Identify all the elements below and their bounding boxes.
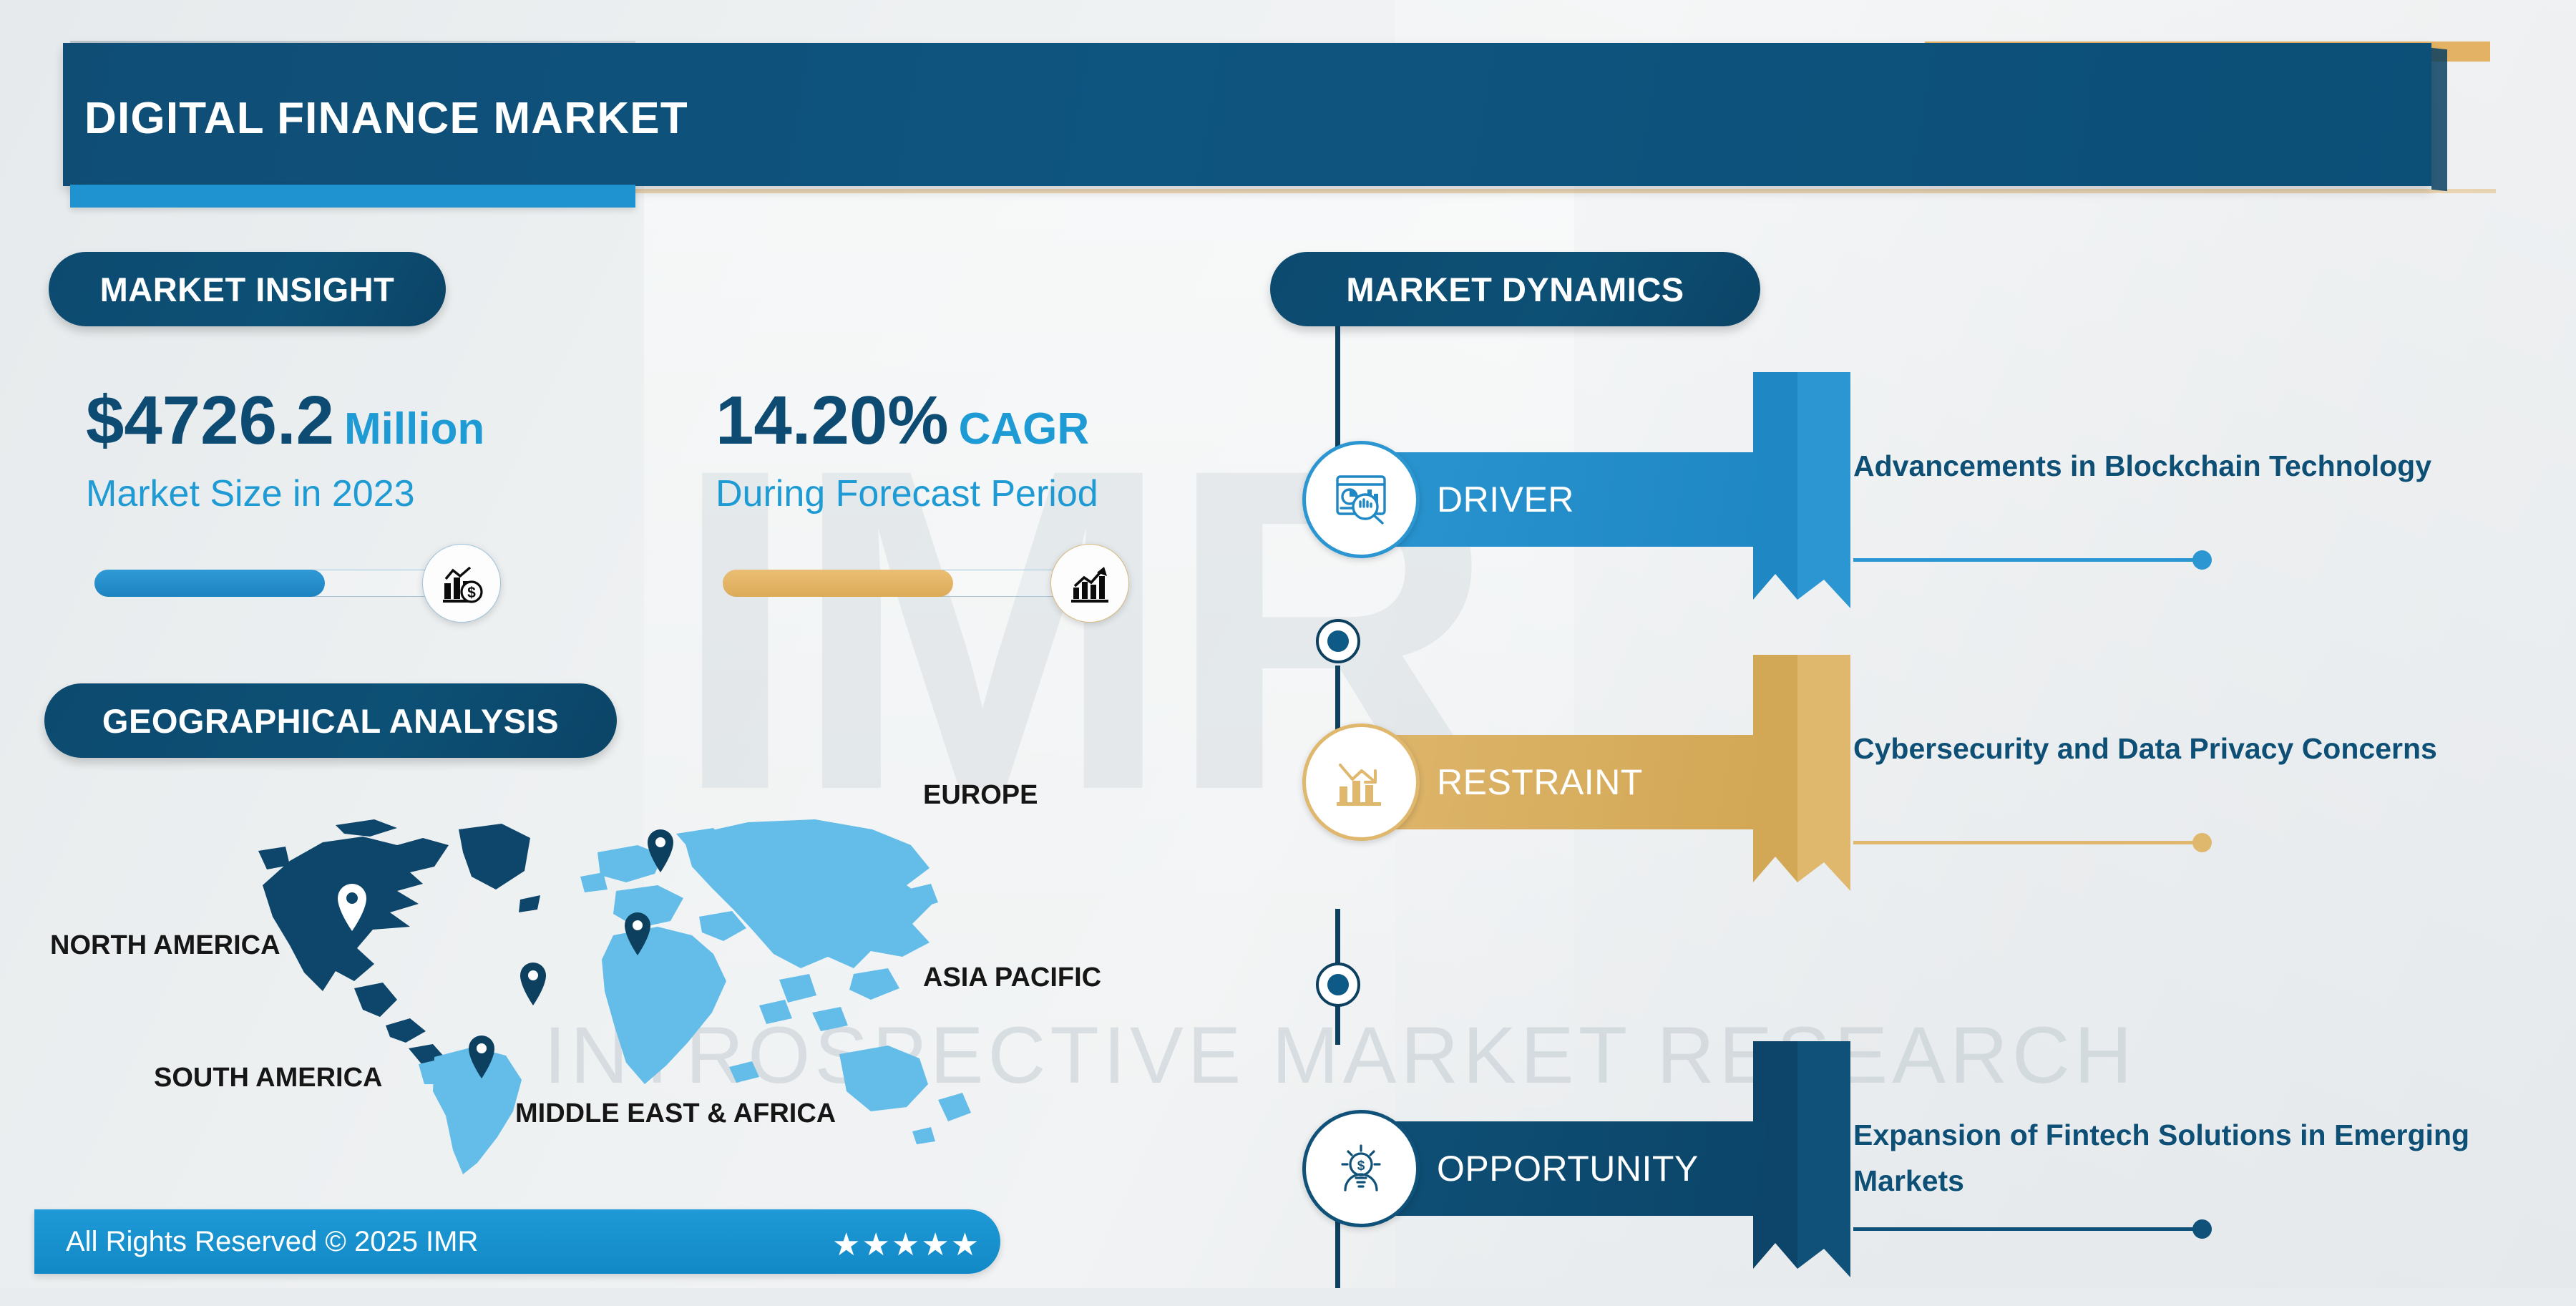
underline-end-dot [2192,550,2212,570]
progress-fill [723,570,953,597]
lightbulb-dollar-icon: $ [1302,1110,1420,1227]
cagr-unit: CAGR [959,404,1090,454]
stat-market-size: $4726.2Million Market Size in 2023 [86,386,484,515]
bar-chart-dollar-icon: $ [422,544,501,623]
growth-arrow-chart-icon [1050,544,1129,623]
restraint-description-block: Cybersecurity and Data Privacy Concerns [1853,726,2519,772]
svg-text:$: $ [1357,1159,1365,1174]
dynamics-item-driver[interactable]: DRIVER Advancements in Blockchain Techno… [1281,437,2540,580]
map-label-middle-east-africa: MIDDLE EAST & AFRICA [515,1098,836,1129]
market-size-caption: Market Size in 2023 [86,472,484,515]
driver-description-block: Advancements in Blockchain Technology [1853,444,2519,489]
copyright-text: All Rights Reserved © 2025 IMR [66,1226,478,1258]
cagr-value-row: 14.20%CAGR [716,386,1098,455]
svg-text:$: $ [467,585,476,601]
restraint-underline [1853,841,2204,844]
map-label-asia-pacific: ASIA PACIFIC [923,963,1101,993]
opportunity-label: OPPORTUNITY [1437,1148,1699,1189]
map-label-north-america: NORTH AMERICA [50,930,280,961]
underline-rule [1853,841,2204,844]
declining-bar-chart-icon [1302,723,1420,841]
opportunity-band[interactable]: $ OPPORTUNITY [1315,1121,1766,1216]
driver-band[interactable]: DRIVER [1315,452,1766,547]
region-middle-east-africa [602,911,759,1084]
region-south-america [419,1047,522,1174]
driver-underline [1853,558,2204,562]
timeline-node-dot [1316,963,1360,1007]
progress-fill [94,570,325,597]
timeline-node-dot [1316,619,1360,663]
geographical-analysis-heading: GEOGRAPHICAL ANALYSIS [44,683,617,758]
footer-bar: All Rights Reserved © 2025 IMR ★★★★★ [34,1209,1000,1274]
region-oceania [839,1046,971,1144]
opportunity-underline [1853,1227,2204,1231]
restraint-ribbon [1753,655,1850,920]
market-size-value-row: $4726.2Million [86,386,484,455]
map-label-europe: EUROPE [923,780,1038,811]
opportunity-ribbon [1753,1041,1850,1306]
driver-ribbon [1753,372,1850,637]
market-size-value: $4726.2 [86,382,334,459]
header-blue-accent [70,185,635,208]
page-title: DIGITAL FINANCE MARKET [84,93,688,144]
cagr-progress [723,567,1095,600]
opportunity-description-block: Expansion of Fintech Solutions in Emergi… [1853,1113,2519,1204]
underline-rule [1853,1227,2204,1231]
restraint-label: RESTRAINT [1437,761,1643,803]
underline-end-dot [2192,1219,2212,1239]
opportunity-description: Expansion of Fintech Solutions in Emergi… [1853,1113,2519,1204]
map-pin-middle-east-africa [520,963,546,1005]
underline-end-dot [2192,833,2212,852]
region-north-america [258,819,540,1066]
driver-label: DRIVER [1437,479,1574,520]
infographic-root: IMR INTROSPECTIVE MARKET RESEARCH DIGITA… [0,0,2576,1288]
cagr-caption: During Forecast Period [716,472,1098,515]
underline-rule [1853,558,2204,562]
cagr-value: 14.20% [716,382,949,459]
map-label-south-america: SOUTH AMERICA [154,1063,382,1093]
driver-description: Advancements in Blockchain Technology [1853,444,2519,489]
stat-cagr: 14.20%CAGR During Forecast Period [716,386,1098,515]
restraint-description: Cybersecurity and Data Privacy Concerns [1853,726,2519,772]
market-size-progress [94,567,467,600]
dynamics-item-restraint[interactable]: RESTRAINT Cybersecurity and Data Privacy… [1281,719,2540,862]
market-size-unit: Million [344,404,484,454]
rating-stars: ★★★★★ [832,1227,980,1263]
dashboard-magnifier-icon [1302,441,1420,558]
dynamics-item-opportunity[interactable]: $ OPPORTUNITY Expansion of Fintech Solut… [1281,1106,2540,1249]
market-dynamics-heading: MARKET DYNAMICS [1270,252,1760,326]
restraint-band[interactable]: RESTRAINT [1315,735,1766,829]
market-insight-heading: MARKET INSIGHT [49,252,446,326]
